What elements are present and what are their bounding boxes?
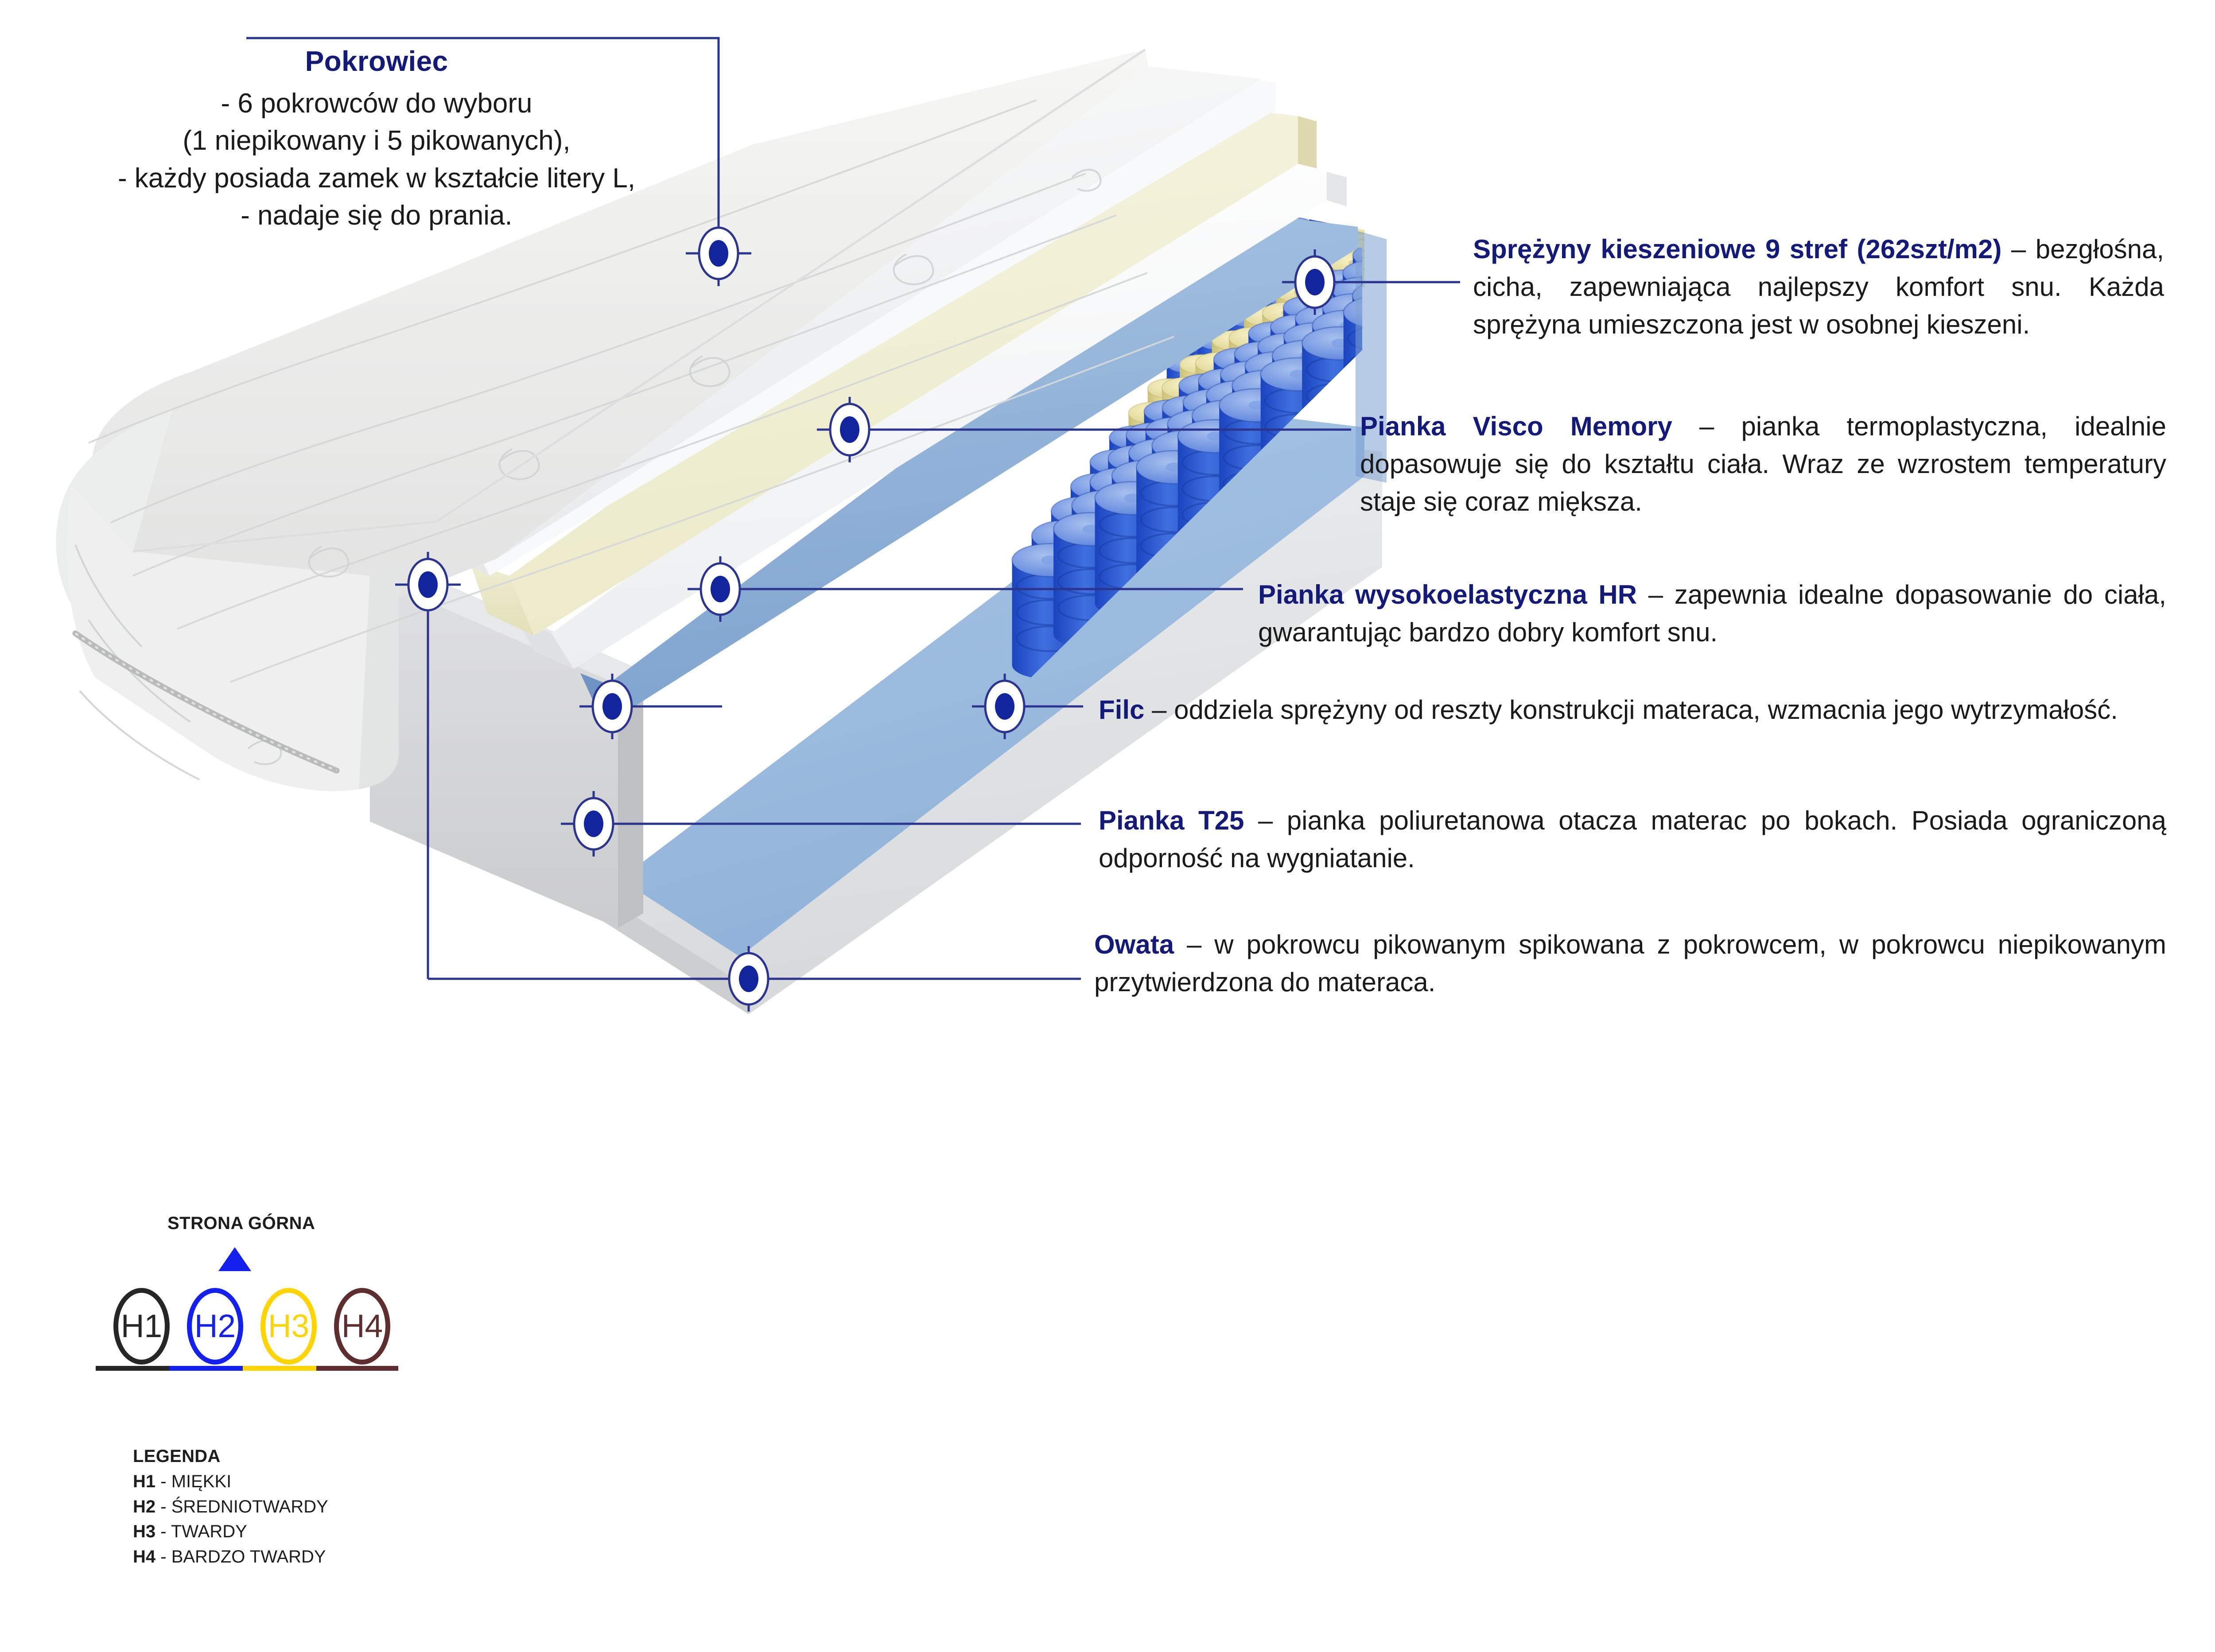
pocket-spring — [1530, 102, 1579, 206]
pocket-spring — [1219, 389, 1294, 524]
pocket-spring — [1626, 0, 1657, 63]
pocket-spring — [1295, 305, 1356, 425]
pocket-spring — [1224, 283, 1255, 364]
pocket-spring — [1284, 323, 1349, 448]
pocket-spring — [1192, 400, 1263, 531]
pocket-spring — [1370, 164, 1398, 240]
pocket-spring — [1562, 88, 1614, 198]
hardness-circle-h2: H2 — [187, 1288, 243, 1365]
pocket-spring — [1559, 98, 1617, 213]
pocket-spring — [1726, 0, 1771, 46]
pocket-spring — [1731, 0, 1780, 57]
callout-pokrowiec: Pokrowiec - 6 pokrowców do wyboru (1 nie… — [75, 42, 678, 234]
pocket-spring — [1363, 227, 1412, 332]
marker-sprezyny — [1282, 249, 1348, 315]
pocket-spring — [1632, 44, 1689, 159]
pocket-spring — [1319, 202, 1347, 279]
pocket-spring — [1283, 296, 1336, 406]
pocket-spring — [1341, 234, 1386, 334]
marker-hr — [688, 556, 753, 622]
pocket-spring — [1162, 377, 1211, 482]
pocket-spring — [1469, 138, 1514, 238]
pocket-spring — [1492, 83, 1523, 163]
pocket-spring — [1232, 370, 1302, 500]
pocket-spring — [1109, 426, 1162, 536]
pocket-spring — [1514, 76, 1549, 161]
pocket-spring — [1597, 52, 1646, 156]
legend-code: H2 — [133, 1497, 155, 1516]
pocket-spring — [1673, 40, 1744, 171]
pocket-spring — [1402, 160, 1436, 245]
pocket-spring — [1333, 277, 1394, 397]
pocket-spring — [1687, 0, 1725, 47]
pocket-spring — [1053, 512, 1128, 648]
legend-desc: - MIĘKKI — [155, 1472, 231, 1491]
callout-t25-body: – pianka poliuretanowa otacza materac po… — [1099, 806, 2166, 873]
legend-desc: - ŚREDNIOTWARDY — [155, 1497, 328, 1516]
pocket-spring — [1421, 126, 1449, 202]
pocket-spring — [1623, 0, 1649, 36]
callout-owata-body: – w pokrowcu pikowanym spikowana z pokro… — [1094, 930, 2166, 997]
pocket-spring — [1422, 192, 1475, 302]
pocket-spring — [1631, 36, 1684, 146]
pocket-spring — [1235, 341, 1292, 456]
pocket-spring — [1167, 410, 1233, 535]
pocket-spring — [1090, 468, 1155, 593]
pocket-spring — [1599, 13, 1633, 98]
pocket-spring — [1472, 88, 1500, 164]
pocket-spring — [1657, 0, 1695, 69]
pocket-spring — [1318, 270, 1371, 380]
pocket-spring — [1438, 123, 1469, 204]
pocket-spring — [1527, 114, 1579, 224]
callout-visco-heading: Pianka Visco Memory — [1360, 411, 1672, 441]
pocket-spring — [1361, 265, 1427, 390]
pocket-spring — [1740, 0, 1797, 78]
pocket-spring — [1592, 110, 1667, 245]
pocket-spring — [1242, 260, 1271, 336]
pocket-spring — [1628, 0, 1666, 91]
pocket-spring — [1454, 91, 1480, 163]
legend-desc: - BARDZO TWARDY — [155, 1547, 326, 1567]
pocket-spring — [1595, 81, 1656, 201]
pocket-spring — [1415, 206, 1472, 321]
pocket-spring — [1624, 0, 1653, 50]
pocket-spring — [1250, 264, 1282, 344]
pocket-spring — [1308, 259, 1353, 358]
pocket-spring — [1714, 11, 1784, 141]
pocket-spring — [1569, 45, 1607, 135]
pocket-spring — [1126, 423, 1183, 537]
pocket-spring — [1363, 199, 1401, 289]
legend: LEGENDA H1 - MIĘKKIH2 - ŚREDNIOTWARDYH3 … — [133, 1444, 328, 1570]
pocket-spring — [1675, 0, 1704, 12]
pocket-spring — [1180, 355, 1225, 454]
pocket-spring — [1596, 71, 1653, 186]
hardness-circle-h4: H4 — [334, 1288, 390, 1365]
pocket-spring — [1799, 0, 1874, 91]
pocket-spring — [1736, 0, 1788, 67]
pocket-spring — [1277, 244, 1309, 324]
hardness-circles: H1H2H3H4 — [111, 1288, 447, 1370]
pocket-spring — [1675, 48, 1750, 183]
pocket-spring — [1071, 473, 1132, 593]
pocket-spring — [1406, 128, 1431, 199]
hardness-circle-label: H4 — [342, 1310, 383, 1342]
callout-pokrowiec-line-3: - każdy posiada zamek w kształcie litery… — [118, 163, 635, 194]
pocket-spring — [1258, 333, 1319, 453]
pocket-spring — [1212, 330, 1257, 430]
pocket-spring — [1481, 111, 1519, 201]
callout-hr: Pianka wysokoelastyczna HR – zapewnia id… — [1258, 576, 2166, 651]
pocket-spring — [1834, 0, 1904, 51]
pocket-spring — [1671, 0, 1697, 0]
pocket-spring — [1572, 23, 1604, 104]
pocket-spring — [1721, 0, 1763, 35]
pocket-spring — [1752, 0, 1794, 12]
pocket-spring — [1198, 368, 1255, 483]
pocket-spring — [1333, 221, 1371, 311]
pocket-spring — [1558, 109, 1619, 229]
pocket-spring — [1523, 50, 1551, 126]
legend-code: H1 — [133, 1472, 155, 1491]
pocket-spring — [1794, 0, 1864, 81]
pocket-spring — [1296, 277, 1345, 382]
marker-filc — [972, 674, 1038, 739]
pocket-spring — [1598, 23, 1636, 113]
callout-t25: Pianka T25 – pianka poliuretanowa otacza… — [1099, 802, 2166, 877]
pocket-spring — [1503, 55, 1528, 127]
legend-row-h3: H3 - TWARDY — [133, 1519, 328, 1544]
pocket-spring — [1716, 17, 1791, 152]
callout-pokrowiec-line-2: (1 niepikowany i 5 pikowanych), — [183, 125, 570, 156]
pocket-spring — [1458, 118, 1492, 203]
pocket-spring — [1711, 0, 1746, 14]
up-arrow-icon — [218, 1247, 251, 1271]
pocket-spring — [1370, 249, 1431, 369]
hardness-bar-h3 — [243, 1366, 325, 1371]
pocket-spring — [1633, 62, 1698, 187]
pocket-spring — [1136, 451, 1211, 586]
pocket-spring — [1841, 0, 1916, 60]
pocket-spring — [1261, 236, 1286, 307]
pocket-spring — [1570, 34, 1605, 119]
pocket-spring — [1148, 379, 1193, 478]
pocket-spring — [1290, 263, 1332, 357]
pocket-spring — [1344, 183, 1372, 260]
pocket-spring — [1090, 450, 1147, 564]
pocket-spring — [1567, 55, 1609, 150]
pocket-spring — [1776, 0, 1833, 51]
pocket-spring — [1574, 12, 1602, 88]
pocket-spring — [1430, 109, 1456, 181]
pocket-spring — [1407, 221, 1469, 341]
callout-sprezyny-heading: Sprężyny kieszeniowe 9 stref (262szt/m2) — [1473, 234, 2001, 264]
pocket-spring — [1293, 221, 1321, 298]
pocket-spring — [1272, 340, 1343, 470]
legend-code: H4 — [133, 1547, 155, 1567]
pocket-spring — [1652, 0, 1684, 43]
pocket-spring — [1146, 417, 1207, 537]
pocket-spring — [1396, 202, 1446, 306]
hardness-circle-h1: H1 — [113, 1288, 170, 1365]
pocket-spring — [1307, 287, 1364, 402]
hardness-scale: STRONA GÓRNA H1H2H3H4 — [111, 1214, 509, 1382]
pocket-spring — [1648, 0, 1673, 18]
pocket-spring — [1575, 1, 1601, 73]
marker-owata — [716, 946, 781, 1012]
pocket-spring — [1593, 101, 1663, 231]
pocket-spring — [1599, 3, 1630, 83]
marker-filc-edge — [579, 674, 645, 739]
legend-rows: H1 - MIĘKKIH2 - ŚREDNIOTWARDYH3 - TWARDY… — [133, 1469, 328, 1570]
pocket-spring — [1716, 0, 1754, 25]
marker-visco — [817, 397, 882, 462]
pocket-spring — [1183, 389, 1244, 509]
legend-code: H3 — [133, 1522, 155, 1541]
pocket-spring — [1527, 37, 1552, 109]
pocket-spring — [1505, 101, 1547, 196]
pocket-spring — [1451, 133, 1489, 223]
pocket-spring — [1387, 218, 1440, 328]
pocket-spring — [1405, 186, 1450, 286]
pocket-spring — [1167, 355, 1209, 450]
hardness-circle-label: H1 — [121, 1310, 162, 1342]
marker-pokrowiec — [686, 221, 751, 286]
pocket-spring — [1683, 0, 1718, 35]
pocket-spring — [1633, 70, 1704, 201]
pocket-spring — [1373, 181, 1408, 267]
pocket-spring — [1263, 302, 1312, 407]
pocket-spring — [1112, 460, 1182, 590]
pocket-spring — [1664, 2, 1713, 107]
legend-title: LEGENDA — [133, 1444, 328, 1469]
pocket-spring — [1372, 210, 1418, 310]
pocket-spring — [1749, 0, 1815, 100]
pocket-spring — [1220, 361, 1282, 481]
pocket-spring — [1393, 250, 1463, 380]
pocket-spring — [1343, 260, 1400, 375]
pocket-spring — [1650, 0, 1679, 31]
callout-visco: Pianka Visco Memory – pianka termoplasty… — [1360, 407, 2166, 521]
hardness-bar-h1 — [96, 1366, 178, 1371]
pocket-spring — [1555, 120, 1621, 244]
pocket-spring — [1411, 143, 1442, 224]
pocket-spring — [1261, 358, 1336, 493]
pocket-spring — [1668, 17, 1725, 132]
pocket-spring — [1274, 265, 1312, 355]
pocket-spring — [1304, 223, 1335, 304]
pocket-spring — [1144, 400, 1197, 510]
pocket-spring — [1543, 55, 1577, 140]
pocket-spring — [1545, 43, 1577, 124]
pocket-spring — [1764, 0, 1813, 31]
pocket-spring — [1857, 0, 1918, 5]
pocket-spring — [1422, 155, 1460, 245]
pocket-spring — [1268, 240, 1296, 317]
pocket-spring — [1486, 97, 1520, 182]
marker-cover-corner — [395, 552, 461, 617]
pocket-spring — [1271, 314, 1328, 429]
pocket-spring — [1710, 4, 1776, 129]
pocket-spring — [1214, 348, 1267, 458]
pocket-spring — [1655, 0, 1690, 56]
strona-gorna-label: STRONA GÓRNA — [167, 1214, 315, 1233]
pocket-spring — [1329, 252, 1379, 357]
pocket-spring — [1598, 32, 1640, 127]
callout-markers — [395, 221, 1348, 1012]
pocket-spring — [1352, 280, 1423, 411]
callout-owata-heading: Owata — [1094, 930, 1174, 959]
pocket-spring — [1228, 309, 1270, 403]
pocket-spring — [1704, 0, 1761, 105]
pocket-spring — [1108, 445, 1169, 565]
pocket-spring — [1430, 177, 1479, 282]
pocket-spring — [1536, 78, 1578, 173]
pocket-spring — [1128, 402, 1177, 507]
pocket-spring — [1630, 27, 1679, 132]
pocket-spring — [1384, 163, 1416, 244]
legend-row-h1: H1 - MIĘKKI — [133, 1469, 328, 1494]
pocket-spring — [1206, 381, 1272, 506]
pocket-spring — [1233, 286, 1267, 372]
pocket-spring — [1392, 177, 1430, 267]
pocket-spring — [1012, 543, 1087, 679]
pocket-spring — [1745, 0, 1806, 89]
callout-t25-heading: Pianka T25 — [1099, 806, 1244, 835]
pocket-spring — [1323, 294, 1388, 419]
pocket-spring — [1670, 25, 1731, 145]
pocket-spring — [1446, 107, 1474, 183]
pocket-spring — [1627, 0, 1661, 77]
callout-hr-heading: Pianka wysokoelastyczna HR — [1258, 580, 1637, 609]
pocket-spring — [1229, 327, 1278, 432]
legend-row-h4: H4 - BARDZO TWARDY — [133, 1544, 328, 1570]
pocket-spring — [1162, 396, 1220, 510]
pocket-spring — [1758, 0, 1803, 22]
pocket-spring — [1379, 233, 1436, 348]
pocket-spring — [1758, 0, 1833, 122]
pocket-spring — [1244, 306, 1289, 406]
pocket-spring — [1259, 286, 1301, 380]
pocket-spring — [1746, 0, 1784, 3]
pocket-spring — [1245, 352, 1310, 477]
pocket-spring — [1630, 18, 1675, 118]
pocket-spring — [1659, 0, 1701, 81]
pocket-spring — [1882, 0, 1957, 29]
pocket-spring — [1533, 90, 1578, 190]
pocket-spring — [1812, 0, 1869, 24]
callout-filc: Filc – oddziela sprężyny od reszty konst… — [1099, 691, 2166, 729]
pocket-spring — [1321, 240, 1362, 334]
pocket-spring — [1382, 194, 1424, 288]
pocket-spring — [1317, 223, 1352, 309]
pocket-spring — [1599, 0, 1627, 69]
pocket-spring — [1357, 183, 1389, 264]
pocket-spring — [1551, 19, 1577, 91]
hardness-circle-label: H2 — [194, 1310, 236, 1342]
pocket-spring — [1596, 62, 1649, 171]
legend-row-h2: H2 - ŚREDNIOTWARDY — [133, 1494, 328, 1520]
cover-zipper — [75, 633, 337, 771]
t25-side-foam-edge — [618, 671, 643, 928]
pocket-spring — [1497, 69, 1525, 145]
pocket-spring — [1701, 0, 1753, 93]
pocket-spring — [1353, 244, 1406, 354]
pocket-spring — [1475, 124, 1516, 219]
pocket-spring — [1519, 63, 1550, 143]
pocket-spring — [1874, 0, 1944, 21]
pocket-spring — [1352, 217, 1393, 311]
hardness-bar-h4 — [316, 1366, 398, 1371]
pocket-spring — [1261, 265, 1295, 351]
pocket-spring — [1782, 0, 1843, 61]
pocket-spring — [1179, 374, 1232, 484]
pocket-spring — [1276, 283, 1321, 382]
pocket-spring — [1245, 287, 1283, 377]
pocket-spring — [1478, 73, 1504, 145]
pocket-spring — [1304, 243, 1342, 334]
pocket-spring — [1565, 66, 1610, 166]
callout-filc-heading: Filc — [1099, 695, 1144, 725]
pocket-spring — [1694, 0, 1739, 70]
cover-embroidery — [248, 170, 1101, 764]
pocket-spring — [1690, 0, 1732, 58]
pocket-spring — [1444, 147, 1485, 242]
pocket-spring — [1523, 125, 1581, 240]
pocket-spring — [1331, 203, 1362, 284]
pocket-spring — [1599, 0, 1625, 54]
pocket-spring — [1400, 236, 1466, 361]
pocket-spring — [1753, 0, 1824, 111]
hardness-circle-label: H3 — [268, 1310, 309, 1342]
hardness-bar-h2 — [169, 1366, 251, 1371]
marker-t25 — [561, 791, 626, 857]
pocket-spring — [1197, 332, 1239, 427]
pocket-spring — [1395, 145, 1423, 221]
pocket-spring — [1788, 0, 1854, 71]
pocket-spring — [1186, 331, 1224, 422]
pocket-spring — [1594, 91, 1659, 216]
pocket-spring — [1707, 0, 1768, 117]
pocket-spring — [1382, 145, 1407, 217]
pocket-spring — [1633, 79, 1708, 214]
pocket-spring — [1697, 0, 1746, 81]
pocket-spring — [1496, 127, 1546, 232]
pocket-spring — [1309, 200, 1335, 271]
callout-pokrowiec-line-1: - 6 pokrowców do wyboru — [221, 88, 532, 119]
pocket-spring — [1285, 218, 1311, 290]
pocket-spring — [1826, 0, 1892, 42]
legend-desc: - TWARDY — [155, 1522, 247, 1541]
pocket-spring — [1051, 496, 1117, 621]
callout-sprezyny: Sprężyny kieszeniowe 9 stref (262szt/m2)… — [1473, 230, 2164, 344]
pocket-spring — [1357, 163, 1383, 235]
pocket-spring — [1662, 0, 1707, 94]
felt-layer — [608, 212, 1358, 714]
pocket-spring — [1289, 244, 1324, 330]
pocket-spring — [1215, 309, 1253, 399]
pocket-spring — [1671, 33, 1737, 158]
pocket-spring — [1865, 0, 1931, 13]
pocket-spring — [1413, 171, 1455, 265]
callout-pokrowiec-heading: Pokrowiec — [75, 42, 678, 81]
pocket-spring — [1248, 322, 1301, 432]
pocket-spring — [1629, 9, 1671, 104]
pocket-spring — [1195, 352, 1244, 457]
quilted-cover-left-end — [67, 485, 370, 791]
pocket-spring — [1798, 0, 1847, 7]
